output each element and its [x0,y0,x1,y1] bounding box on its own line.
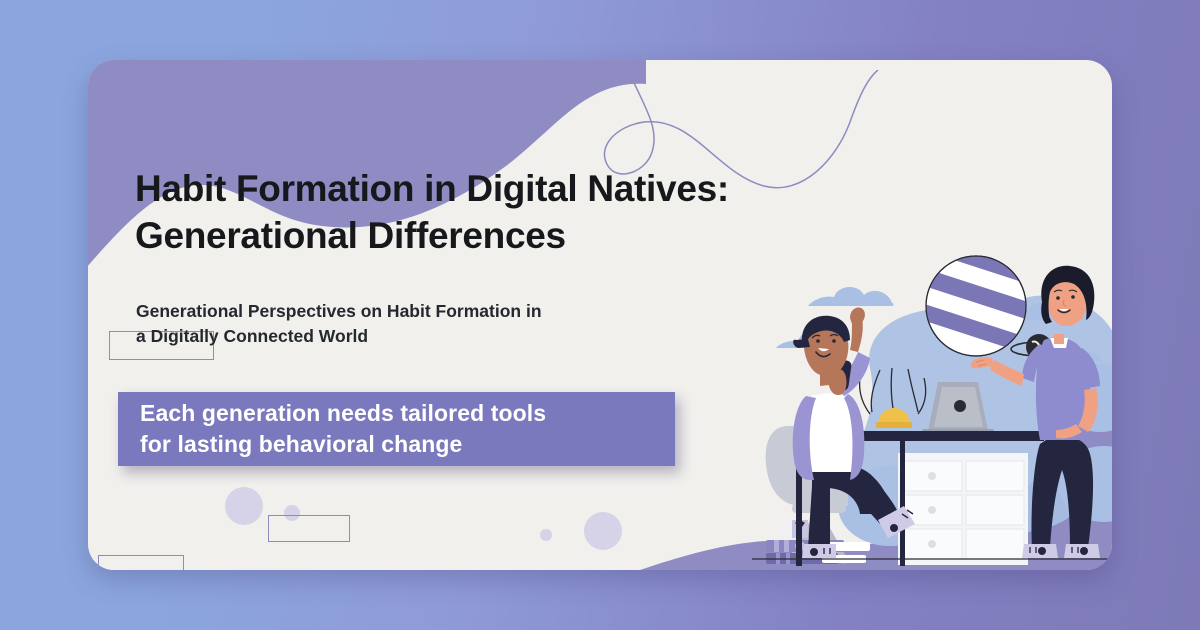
drawer-cabinet [898,453,1028,565]
banner-line-2: for lasting behavioral change [140,431,462,457]
key-message-banner: Each generation needs tailored tools for… [118,392,675,466]
banner-line-1: Each generation needs tailored tools [140,400,546,426]
page-title: Habit Formation in Digital Natives: Gene… [135,166,835,259]
decor-rect-2 [98,555,184,570]
decor-circle-4 [584,512,622,550]
subtitle-line-2: a Digitally Connected World [136,326,368,346]
decor-circle-1 [225,487,263,525]
banner-text: Each generation needs tailored tools for… [118,398,546,459]
illustration [752,248,1112,570]
subtitle-line-1: Generational Perspectives on Habit Forma… [136,301,542,321]
title-line-2: Generational Differences [135,215,566,256]
title-line-1: Habit Formation in Digital Natives: [135,168,729,209]
decor-circle-3 [540,529,552,541]
decor-rect-1 [268,515,350,542]
page-subtitle: Generational Perspectives on Habit Forma… [136,299,646,349]
